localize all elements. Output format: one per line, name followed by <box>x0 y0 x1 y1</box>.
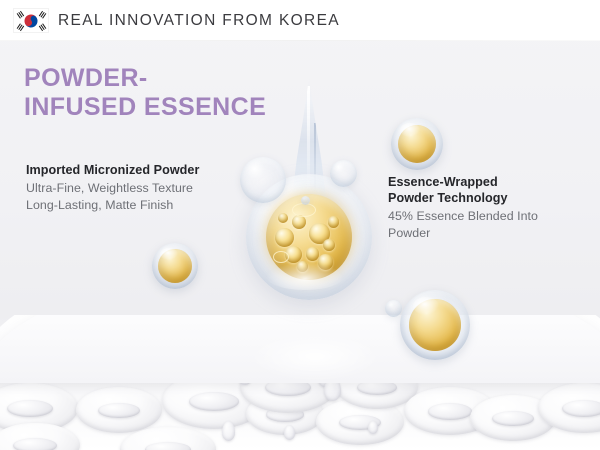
cell <box>76 387 162 433</box>
essence-pearl-top-right <box>391 118 443 170</box>
golden-essence-core <box>266 194 352 280</box>
essence-pearl-bottom-right <box>400 290 470 360</box>
mini-droplet <box>222 421 235 441</box>
mini-droplet <box>368 421 378 434</box>
essence-pearl-left <box>152 243 198 289</box>
surface-glow <box>250 337 380 381</box>
clear-bubble-right <box>330 160 357 187</box>
korean-flag-icon <box>14 9 48 32</box>
clear-bubble-tiny <box>301 196 310 205</box>
header-title: REAL INNOVATION FROM KOREA <box>58 12 340 30</box>
page-title: POWDER- INFUSED ESSENCE <box>24 64 304 123</box>
feature-body: Ultra-Fine, Weightless Texture Long-Last… <box>26 180 258 214</box>
clear-bubble-small-bottom <box>385 300 402 317</box>
feature-body: 45% Essence Blended Into Powder <box>388 208 584 242</box>
feature-title: Imported Micronized Powder <box>26 162 258 178</box>
skin-cell-cross-section <box>0 315 600 450</box>
promotional-poster: POWDER- INFUSED ESSENCE Imported Microni… <box>0 0 600 450</box>
feature-imported-micronized-powder: Imported Micronized Powder Ultra-Fine, W… <box>26 162 258 214</box>
header-bar: REAL INNOVATION FROM KOREA <box>0 0 600 41</box>
feature-essence-wrapped-powder-technology: Essence-Wrapped Powder Technology 45% Es… <box>388 174 584 242</box>
mini-droplet <box>284 425 295 440</box>
cell <box>0 423 80 450</box>
feature-title: Essence-Wrapped Powder Technology <box>388 174 584 206</box>
